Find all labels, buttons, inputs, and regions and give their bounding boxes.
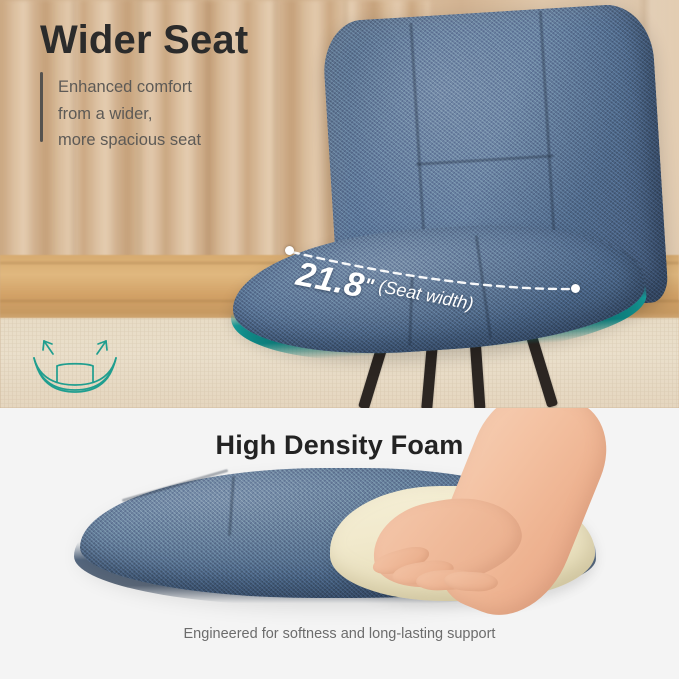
subtitle-line: Enhanced comfort — [58, 74, 298, 101]
top-panel-wider-seat: 21.8" (Seat width) Wider Seat Enhanced c… — [0, 0, 679, 408]
product-feature-image: 21.8" (Seat width) Wider Seat Enhanced c… — [0, 0, 679, 679]
bottom-panel-high-density-foam: High Density Foam Engineered for softnes… — [0, 408, 679, 679]
page-title: Wider Seat — [40, 18, 248, 62]
section-caption: Engineered for softness and long-lasting… — [0, 626, 679, 642]
subtitle-text: Enhanced comfort from a wider, more spac… — [58, 74, 298, 154]
subtitle-line: from a wider, — [58, 101, 298, 128]
seat-width-arrows-icon — [20, 332, 130, 398]
subtitle-accent-bar — [40, 72, 43, 142]
subtitle-line: more spacious seat — [58, 127, 298, 154]
dimension-endpoint-left — [285, 246, 294, 255]
dimension-endpoint-right — [571, 284, 580, 293]
